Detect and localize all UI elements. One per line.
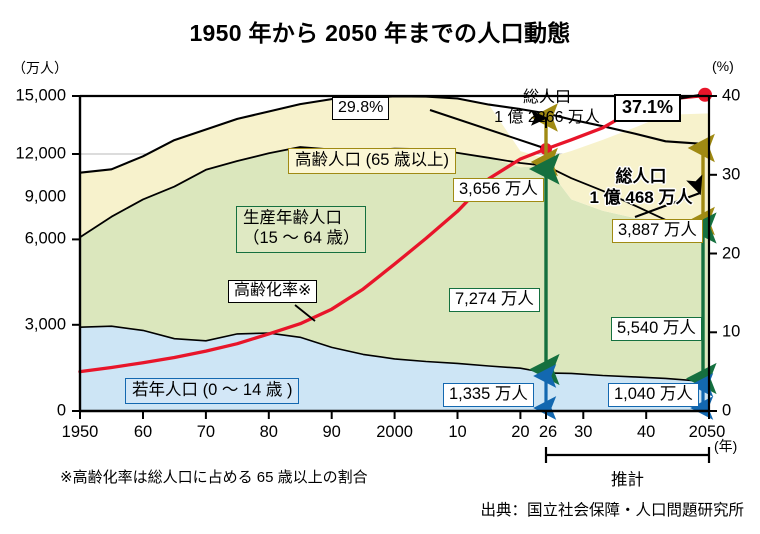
x-tick-90: 90 bbox=[323, 423, 341, 442]
x-tick-60: 60 bbox=[134, 423, 152, 442]
y-tick-right-30: 30 bbox=[722, 165, 758, 184]
y-tick-left-9000b: 9,000 bbox=[0, 187, 66, 206]
legend-working-line2: （15 〜 64 歳） bbox=[243, 229, 359, 249]
x-tick-70: 70 bbox=[197, 423, 215, 442]
y-tick-left-15000: 15,000 bbox=[0, 87, 66, 106]
footnote-text: ※高齢化率は総人口に占める 65 歳以上の割合 bbox=[60, 466, 368, 487]
legend-working-line1: 生産年齢人口 bbox=[243, 209, 359, 229]
y-axis-right-ticks bbox=[709, 96, 717, 411]
x-tick-80: 80 bbox=[260, 423, 278, 442]
y-tick-left-9000: 12,000 bbox=[0, 145, 66, 164]
estimate-bracket bbox=[546, 447, 709, 463]
callout-total-2050: 総人口 1 億 468 万人 bbox=[566, 166, 716, 209]
callout-elderly-2050: 3,887 万人 bbox=[612, 219, 703, 243]
callout-youth-2026: 1,335 万人 bbox=[443, 383, 534, 407]
y-tick-right-40: 40 bbox=[722, 87, 758, 106]
x-tick-26: 26 bbox=[539, 423, 557, 442]
y-tick-left-3000: 3,000 bbox=[0, 315, 66, 334]
y-tick-right-20: 20 bbox=[722, 244, 758, 263]
y-tick-right-10: 10 bbox=[722, 323, 758, 342]
x-tick-20: 20 bbox=[511, 423, 529, 442]
callout-working-2050: 5,540 万人 bbox=[611, 317, 702, 341]
x-tick-2050: 2050 bbox=[689, 423, 726, 442]
callout-aging-rate-2050: 37.1% bbox=[614, 94, 681, 122]
estimate-bracket-label: 推計 bbox=[546, 466, 709, 490]
y-tick-left-0: 0 bbox=[0, 402, 66, 421]
callout-total-2050-line2: 1 億 468 万人 bbox=[566, 187, 716, 208]
source-text: 出典：国立社会保障・人口問題研究所 bbox=[0, 498, 744, 520]
legend-working-label: 生産年齢人口 （15 〜 64 歳） bbox=[236, 206, 366, 253]
population-chart-figure: 1950 年から 2050 年までの人口動態 （万人） (%) (年) bbox=[0, 0, 760, 534]
x-tick-30: 30 bbox=[574, 423, 592, 442]
x-axis-ticks bbox=[80, 411, 709, 419]
y-tick-right-0: 0 bbox=[722, 402, 758, 421]
legend-youth-label: 若年人口 (0 〜 14 歳 ) bbox=[125, 378, 299, 404]
callout-total-2050-line1: 総人口 bbox=[566, 166, 716, 187]
x-tick-40: 40 bbox=[637, 423, 655, 442]
x-tick-1950: 1950 bbox=[62, 423, 99, 442]
callout-aging-rate-2026: 29.8% bbox=[332, 97, 389, 120]
callout-working-2026: 7,274 万人 bbox=[449, 288, 540, 312]
legend-elderly-label: 高齢人口 (65 歳以上) bbox=[288, 148, 456, 174]
chart-plot-area bbox=[0, 0, 760, 534]
y-tick-left-6000: 6,000 bbox=[0, 230, 66, 249]
callout-youth-2050: 1,040 万人 bbox=[608, 383, 699, 407]
x-tick-10: 10 bbox=[448, 423, 466, 442]
x-tick-2000: 2000 bbox=[376, 423, 413, 442]
callout-elderly-2026: 3,656 万人 bbox=[453, 178, 544, 202]
aging-rate-label: 高齢化率※ bbox=[228, 280, 317, 303]
